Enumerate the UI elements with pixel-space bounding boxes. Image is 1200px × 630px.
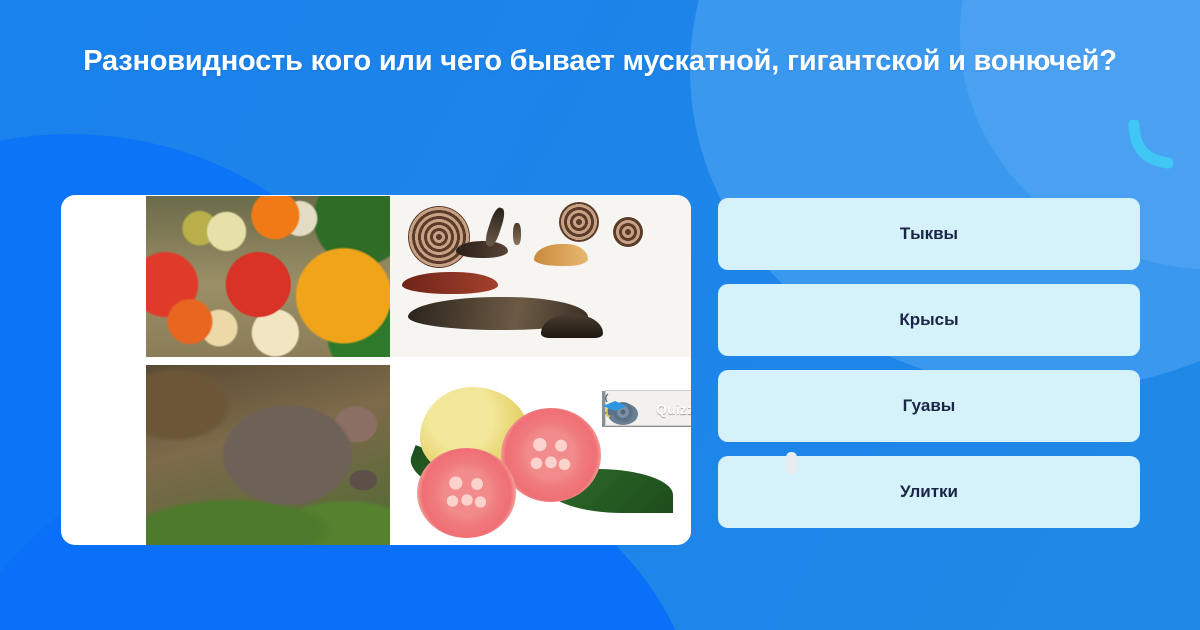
answer-option-4-label: Улитки — [900, 482, 958, 502]
answer-option-4[interactable]: Улитки — [718, 456, 1140, 528]
collage-gap — [146, 357, 691, 365]
watermark-badge: QuizzClub — [602, 391, 691, 427]
answer-option-3-label: Гуавы — [903, 396, 956, 416]
collage-image-snails — [390, 196, 691, 357]
collage-image-rat — [146, 365, 390, 545]
question-title-wrapper: Разновидность кого или чего бывает муска… — [50, 42, 1150, 81]
pumpkins-photo — [146, 196, 390, 357]
watermark-label: QuizzClub — [656, 401, 691, 417]
swoosh-arc-icon — [1128, 120, 1180, 172]
answer-option-3[interactable]: Гуавы — [718, 370, 1140, 442]
answer-option-1[interactable]: Тыквы — [718, 198, 1140, 270]
answer-options-list: Тыквы Крысы Гуавы Улитки — [718, 198, 1140, 542]
answer-option-1-label: Тыквы — [900, 224, 958, 244]
answer-option-2[interactable]: Крысы — [718, 284, 1140, 356]
question-image-card: QuizzClub — [61, 195, 691, 545]
image-collage — [146, 196, 691, 545]
collage-image-pumpkins — [146, 196, 390, 357]
scroll-indicator[interactable] — [786, 452, 797, 474]
question-title: Разновидность кого или чего бывает муска… — [50, 42, 1150, 81]
snail-graduate-icon — [601, 390, 641, 428]
rat-photo — [146, 365, 390, 545]
answer-option-2-label: Крысы — [899, 310, 958, 330]
snails-illustration — [390, 196, 691, 357]
